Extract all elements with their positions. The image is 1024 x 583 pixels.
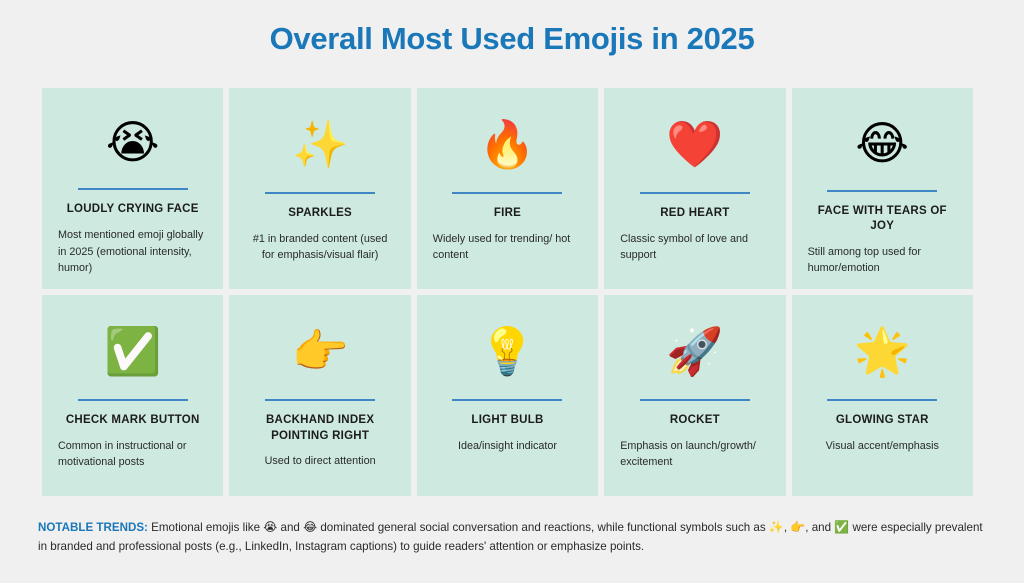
page-title-container: Overall Most Used Emojis in 2025 xyxy=(0,0,1024,57)
card-title: BACKHAND INDEX POINTING RIGHT xyxy=(243,413,396,444)
check-mark-button-icon: ✅ xyxy=(834,520,849,534)
emoji-card-glowing-star[interactable]: 🌟 GLOWING STAR Visual accent/emphasis xyxy=(792,295,973,496)
emoji-card-red-heart[interactable]: ❤️ RED HEART Classic symbol of love and … xyxy=(604,88,785,289)
card-description: Still among top used for humor/emotion xyxy=(806,244,959,277)
emoji-card-grid: 😭 LOUDLY CRYING FACE Most mentioned emoj… xyxy=(42,88,973,496)
card-divider xyxy=(452,399,562,401)
card-description: Classic symbol of love and support xyxy=(618,231,771,264)
card-description: Emphasis on launch/growth/ excitement xyxy=(618,438,771,471)
emoji-card-sparkles[interactable]: ✨ SPARKLES #1 in branded content (used f… xyxy=(229,88,410,289)
card-divider xyxy=(265,399,375,401)
card-title: SPARKLES xyxy=(243,206,396,222)
footer-text-3: dominated general social conversation an… xyxy=(317,521,769,534)
rocket-emoji: 🚀 xyxy=(666,328,723,374)
emoji-slot: ❤️ xyxy=(618,98,771,190)
loudly-crying-face-icon: 😭 xyxy=(263,520,277,534)
card-divider xyxy=(78,399,188,401)
face-with-tears-of-joy-emoji: 😂 xyxy=(855,120,909,166)
card-divider xyxy=(265,192,375,194)
infographic-page: Overall Most Used Emojis in 2025 😭 LOUDL… xyxy=(0,0,1024,583)
card-title: ROCKET xyxy=(618,413,771,429)
emoji-slot: 😭 xyxy=(56,98,209,186)
sparkles-icon: ✨ xyxy=(769,520,784,534)
card-divider xyxy=(827,190,937,192)
emoji-card-face-with-tears-of-joy[interactable]: 😂 FACE WITH TEARS OF JOY Still among top… xyxy=(792,88,973,289)
card-description: Idea/insight indicator xyxy=(431,438,584,455)
card-title: RED HEART xyxy=(618,206,771,222)
card-description: Used to direct attention xyxy=(243,453,396,470)
card-description: Most mentioned emoji globally in 2025 (e… xyxy=(56,227,209,277)
notable-trends-footer: NOTABLE TRENDS: Emotional emojis like 😭 … xyxy=(38,518,988,557)
card-title: LIGHT BULB xyxy=(431,413,584,429)
emoji-card-light-bulb[interactable]: 💡 LIGHT BULB Idea/insight indicator xyxy=(417,295,598,496)
emoji-slot: 💡 xyxy=(431,305,584,397)
emoji-slot: ✅ xyxy=(56,305,209,397)
check-mark-button-emoji: ✅ xyxy=(104,328,161,374)
emoji-card-backhand-index-pointing-right[interactable]: 👉 BACKHAND INDEX POINTING RIGHT Used to … xyxy=(229,295,410,496)
emoji-card-rocket[interactable]: 🚀 ROCKET Emphasis on launch/growth/ exci… xyxy=(604,295,785,496)
card-divider xyxy=(640,399,750,401)
emoji-slot: 😂 xyxy=(806,98,959,188)
emoji-card-check-mark-button[interactable]: ✅ CHECK MARK BUTTON Common in instructio… xyxy=(42,295,223,496)
card-description: Visual accent/emphasis xyxy=(806,438,959,455)
footer-text-1: Emotional emojis like xyxy=(148,521,263,534)
footer-label: NOTABLE TRENDS: xyxy=(38,521,148,534)
card-divider xyxy=(452,192,562,194)
backhand-index-pointing-right-emoji: 👉 xyxy=(291,328,348,374)
footer-text-2: and xyxy=(277,521,303,534)
card-divider xyxy=(640,192,750,194)
card-divider xyxy=(78,188,188,190)
glowing-star-emoji: 🌟 xyxy=(854,328,911,374)
card-title: CHECK MARK BUTTON xyxy=(56,413,209,429)
card-description: #1 in branded content (used for emphasis… xyxy=(243,231,396,264)
fire-emoji: 🔥 xyxy=(479,121,536,167)
face-with-tears-of-joy-icon: 😂 xyxy=(303,520,317,534)
loudly-crying-face-emoji: 😭 xyxy=(106,119,160,165)
sparkles-emoji: ✨ xyxy=(291,121,348,167)
emoji-card-fire[interactable]: 🔥 FIRE Widely used for trending/ hot con… xyxy=(417,88,598,289)
footer-text-5: , and xyxy=(805,521,834,534)
card-description: Widely used for trending/ hot content xyxy=(431,231,584,264)
card-title: LOUDLY CRYING FACE xyxy=(56,202,209,218)
card-description: Common in instructional or motivational … xyxy=(56,438,209,471)
emoji-slot: 👉 xyxy=(243,305,396,397)
card-title: GLOWING STAR xyxy=(806,413,959,429)
backhand-index-pointing-right-icon: 👉 xyxy=(790,520,805,534)
card-title: FACE WITH TEARS OF JOY xyxy=(806,204,959,235)
emoji-card-loudly-crying-face[interactable]: 😭 LOUDLY CRYING FACE Most mentioned emoj… xyxy=(42,88,223,289)
page-title: Overall Most Used Emojis in 2025 xyxy=(0,20,1024,57)
card-title: FIRE xyxy=(431,206,584,222)
emoji-slot: 🌟 xyxy=(806,305,959,397)
red-heart-emoji: ❤️ xyxy=(666,121,723,167)
emoji-slot: 🚀 xyxy=(618,305,771,397)
card-divider xyxy=(827,399,937,401)
emoji-slot: 🔥 xyxy=(431,98,584,190)
light-bulb-emoji: 💡 xyxy=(479,328,536,374)
emoji-slot: ✨ xyxy=(243,98,396,190)
